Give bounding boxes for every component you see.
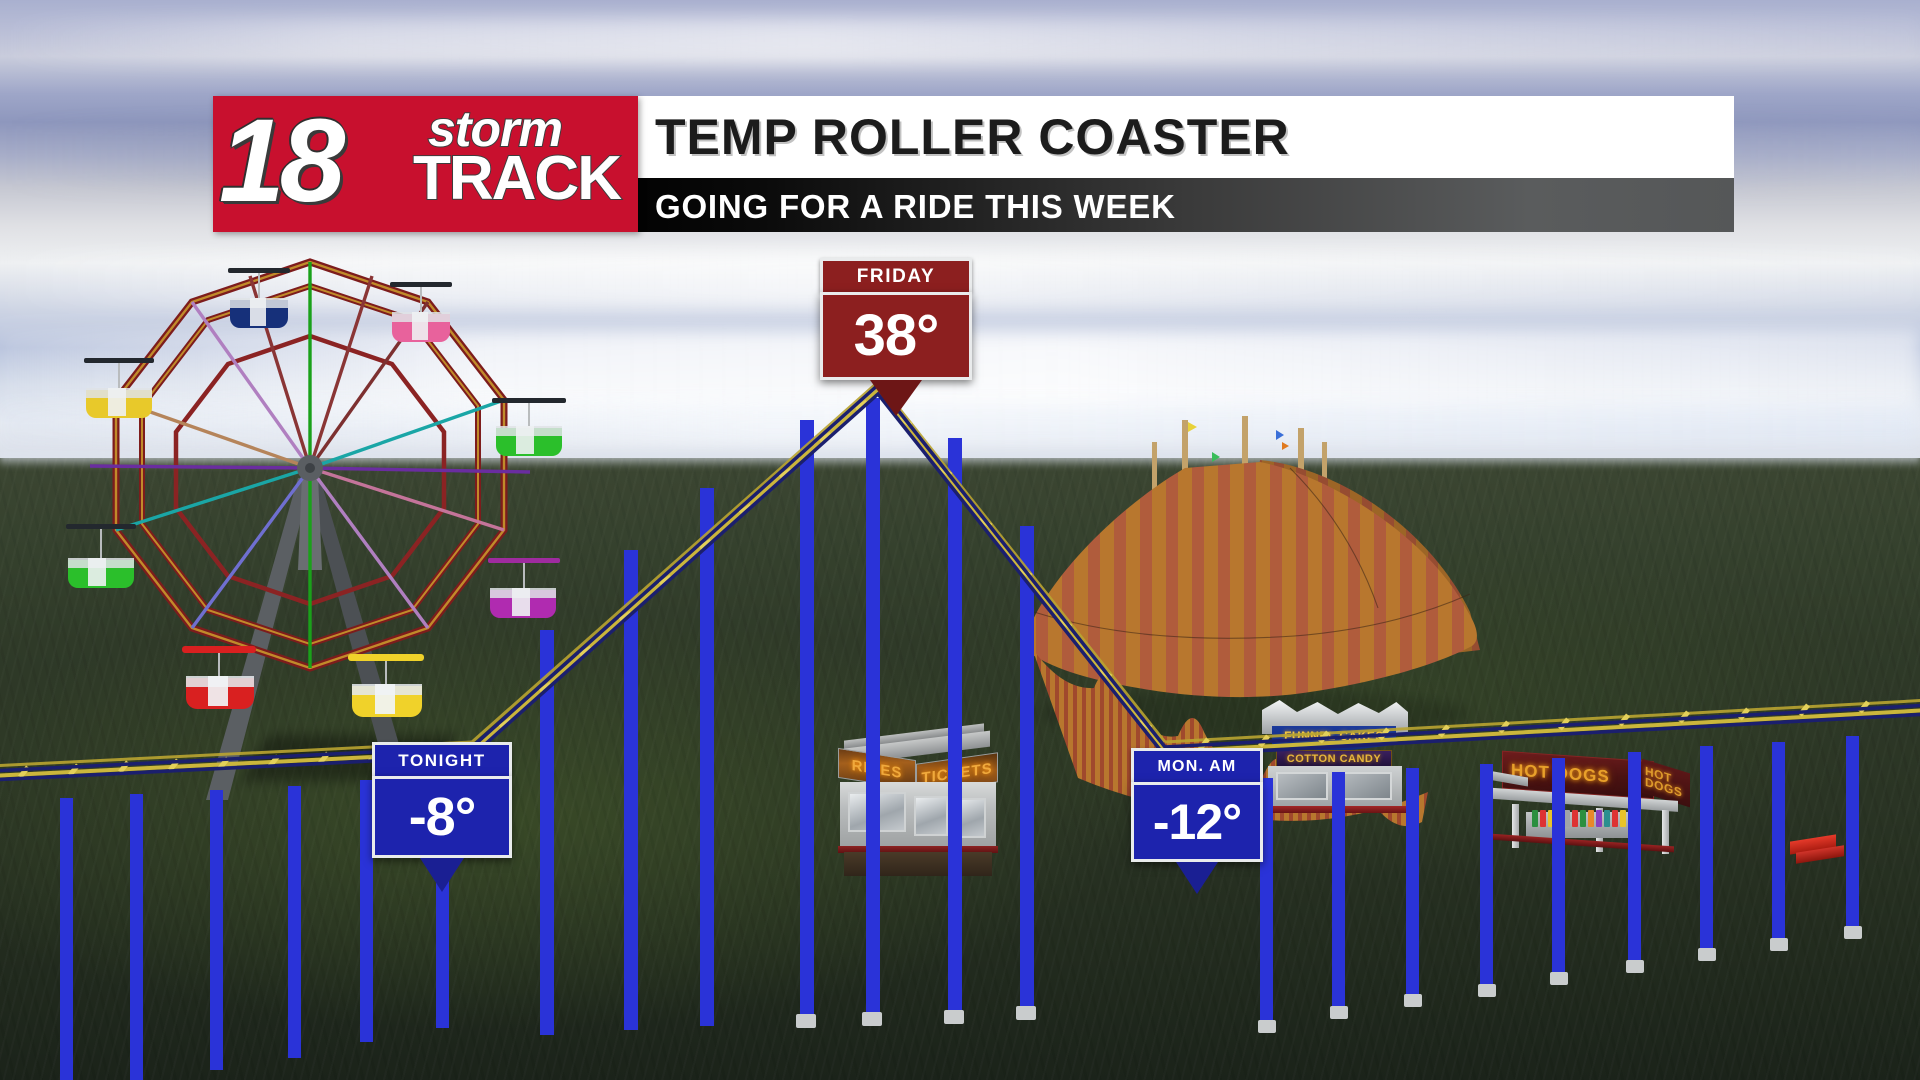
page-title: TEMP ROLLER COASTER — [655, 108, 1290, 166]
forecast-sign-label: TONIGHT — [398, 751, 485, 771]
coaster-track-ties — [20, 402, 1868, 777]
forecast-sign-monday-am: MON. AM -12° — [1131, 748, 1263, 894]
forecast-sign-label-plate: TONIGHT — [372, 742, 512, 776]
forecast-sign-temp-plate: 38° — [820, 292, 972, 380]
forecast-sign-pointer — [1176, 862, 1218, 894]
weather-graphic-stage: RIDES TICKETS FUNNEL CAKES COTTON CANDY … — [0, 0, 1920, 1080]
forecast-sign-temperature: -12° — [1153, 797, 1241, 847]
forecast-sign-pointer — [420, 858, 464, 892]
logo-channel-number: 18 — [219, 102, 340, 220]
forecast-sign-friday: FRIDAY 38° — [820, 258, 972, 416]
forecast-sign-temperature: 38° — [854, 307, 939, 365]
subtitle-bar: GOING FOR A RIDE THIS WEEK — [595, 178, 1734, 232]
page-subtitle: GOING FOR A RIDE THIS WEEK — [655, 188, 1176, 226]
forecast-sign-label-plate: FRIDAY — [820, 258, 972, 292]
forecast-sign-pointer — [870, 380, 922, 416]
station-logo-badge: 18 storm TRACK — [213, 96, 638, 232]
forecast-sign-label: MON. AM — [1158, 758, 1237, 776]
logo-track-word: TRACK — [413, 148, 620, 210]
roller-coaster — [0, 380, 1920, 1080]
forecast-sign-tonight: TONIGHT -8° — [372, 742, 512, 892]
forecast-sign-temp-plate: -12° — [1131, 782, 1263, 862]
forecast-sign-label: FRIDAY — [857, 266, 936, 288]
forecast-sign-label-plate: MON. AM — [1131, 748, 1263, 782]
cloud-band — [0, 18, 1920, 64]
forecast-sign-temperature: -8° — [409, 790, 476, 844]
title-bar: TEMP ROLLER COASTER — [595, 96, 1734, 178]
header-graphic: TEMP ROLLER COASTER GOING FOR A RIDE THI… — [213, 96, 1734, 232]
forecast-sign-temp-plate: -8° — [372, 776, 512, 858]
